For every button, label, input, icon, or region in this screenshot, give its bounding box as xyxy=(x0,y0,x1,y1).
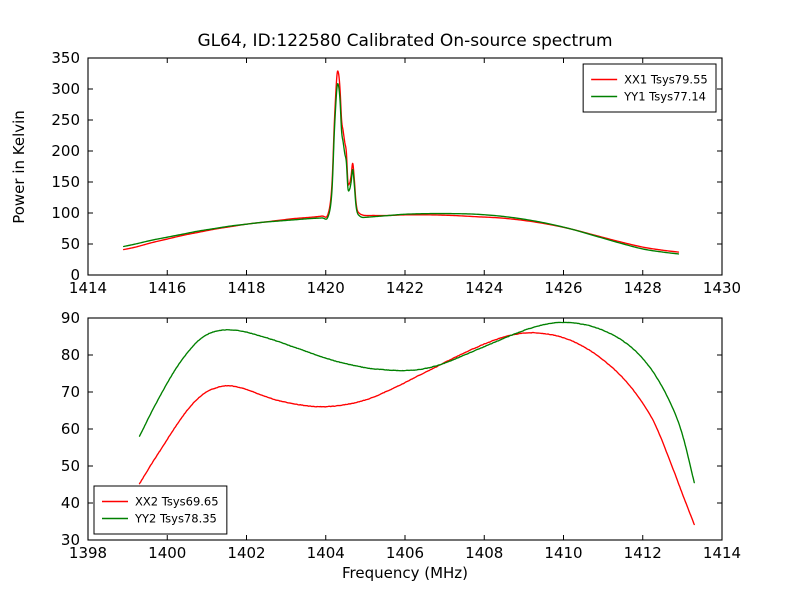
spectrum-figure-canvas: GL64, ID:122580 Calibrated On-source spe… xyxy=(0,0,800,600)
y-tick-label: 50 xyxy=(61,235,80,253)
x-tick-label: 1424 xyxy=(465,279,503,297)
y-tick-label: 40 xyxy=(61,494,80,512)
y-tick-label: 70 xyxy=(61,383,80,401)
y-tick-label: 200 xyxy=(51,142,80,160)
x-tick-label: 1402 xyxy=(227,544,265,562)
legend-box xyxy=(583,64,716,112)
legend-label[interactable]: XX1 Tsys79.55 xyxy=(624,73,708,87)
x-tick-label: 1400 xyxy=(148,544,186,562)
y-tick-label: 80 xyxy=(61,346,80,364)
matplotlib-figure: GL64, ID:122580 Calibrated On-source spe… xyxy=(0,0,800,600)
x-tick-label: 1408 xyxy=(465,544,503,562)
x-tick-label: 1420 xyxy=(307,279,345,297)
x-tick-label: 1426 xyxy=(544,279,582,297)
y-tick-label: 90 xyxy=(61,309,80,327)
x-tick-label: 1430 xyxy=(703,279,741,297)
x-tick-label: 1416 xyxy=(148,279,186,297)
lower-x-axis-label: Frequency (MHz) xyxy=(342,564,468,582)
y-tick-label: 150 xyxy=(51,173,80,191)
legend-label[interactable]: YY2 Tsys78.35 xyxy=(134,512,217,526)
lower-legend[interactable]: XX2 Tsys69.65YY2 Tsys78.35 xyxy=(94,486,227,534)
x-tick-label: 1406 xyxy=(386,544,424,562)
y-tick-label: 30 xyxy=(61,531,80,549)
y-tick-label: 300 xyxy=(51,80,80,98)
x-tick-label: 1404 xyxy=(307,544,345,562)
page-title: GL64, ID:122580 Calibrated On-source spe… xyxy=(197,31,612,51)
y-tick-label: 100 xyxy=(51,204,80,222)
x-tick-label: 1412 xyxy=(624,544,662,562)
x-tick-label: 1428 xyxy=(624,279,662,297)
y-tick-label: 50 xyxy=(61,457,80,475)
x-tick-label: 1418 xyxy=(227,279,265,297)
legend-box xyxy=(94,486,227,534)
y-tick-label: 250 xyxy=(51,111,80,129)
y-tick-label: 0 xyxy=(70,266,80,284)
legend-label[interactable]: YY1 Tsys77.14 xyxy=(623,90,706,104)
x-tick-label: 1414 xyxy=(703,544,741,562)
x-tick-label: 1422 xyxy=(386,279,424,297)
legend-label[interactable]: XX2 Tsys69.65 xyxy=(135,495,219,509)
y-tick-label: 350 xyxy=(51,49,80,67)
y-tick-label: 60 xyxy=(61,420,80,438)
upper-y-axis-label: Power in Kelvin xyxy=(10,110,28,224)
x-tick-label: 1410 xyxy=(544,544,582,562)
upper-legend[interactable]: XX1 Tsys79.55YY1 Tsys77.14 xyxy=(583,64,716,112)
